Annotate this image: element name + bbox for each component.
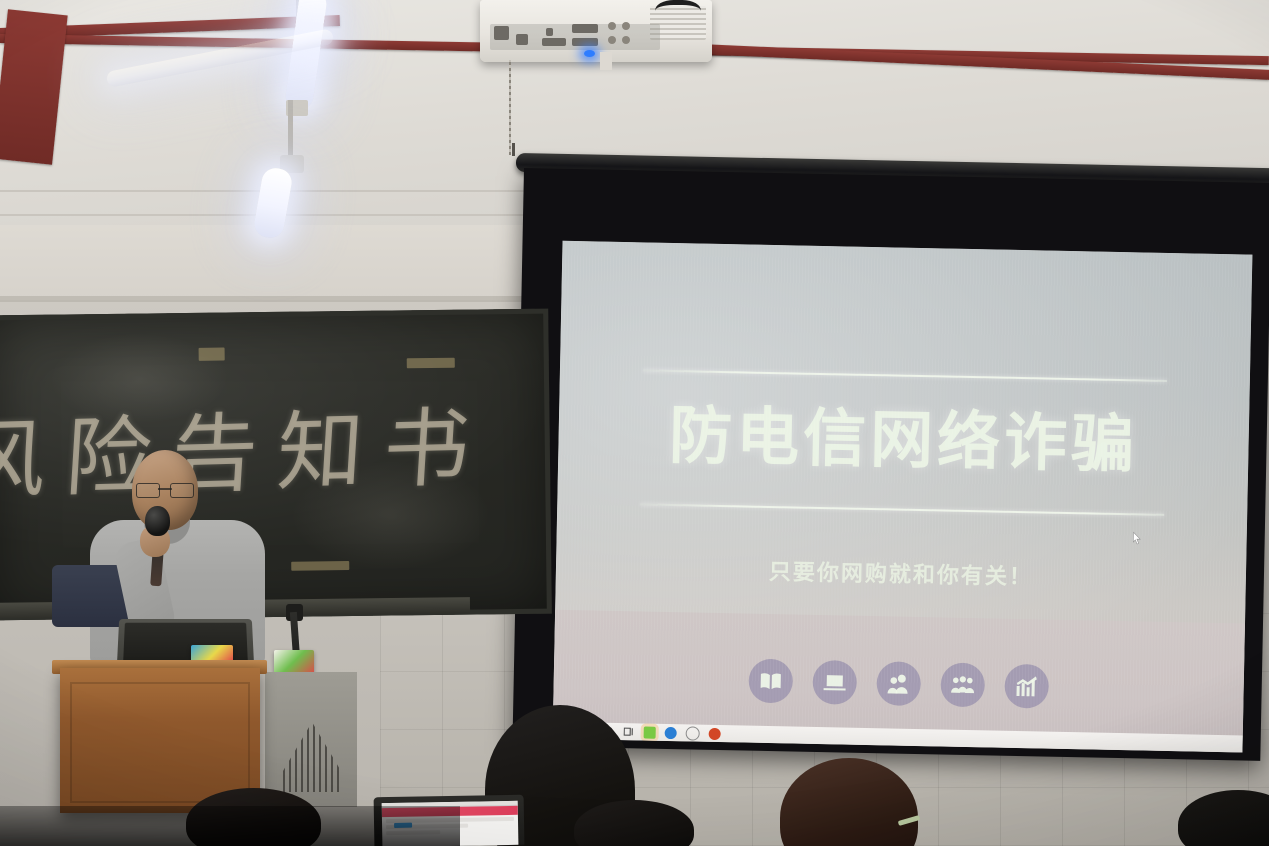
projector-port-vga bbox=[572, 24, 598, 33]
group-people-icon bbox=[940, 663, 985, 708]
task-view-icon[interactable] bbox=[623, 726, 635, 738]
app-icon-orange[interactable] bbox=[709, 727, 721, 739]
projector-port-rca bbox=[622, 22, 630, 30]
open-book-icon bbox=[748, 659, 793, 704]
classroom-scene: 防电信网络诈骗 只要你网购就和你有关！ bbox=[0, 0, 1269, 846]
app-icon-green[interactable] bbox=[644, 726, 656, 738]
slide-rule-top bbox=[643, 369, 1167, 382]
glasses-lens-right bbox=[170, 483, 194, 498]
slide-title: 防电信网络诈骗 bbox=[558, 383, 1250, 488]
lectern-panel bbox=[70, 682, 250, 803]
projector-port bbox=[494, 26, 509, 40]
projector-port-lan bbox=[516, 34, 528, 45]
foreground-shadow bbox=[0, 806, 460, 846]
chalk-tape-mark bbox=[407, 358, 455, 369]
glasses-lens-left bbox=[136, 483, 160, 498]
light-support-rod bbox=[288, 100, 293, 162]
presentation-slide: 防电信网络诈骗 只要你网购就和你有关！ bbox=[553, 241, 1253, 753]
bar-chart-growth-icon bbox=[1004, 664, 1049, 709]
speaker-grille bbox=[283, 722, 341, 792]
screen-hook bbox=[512, 143, 515, 156]
projector-port-vga bbox=[572, 38, 598, 46]
chalk-tape-mark bbox=[291, 561, 349, 571]
projector-power-cable bbox=[655, 0, 701, 27]
slide-rule-bottom bbox=[640, 504, 1164, 517]
projector-port-rca bbox=[608, 22, 616, 30]
projection-screen-border: 防电信网络诈骗 只要你网购就和你有关！ bbox=[512, 168, 1269, 761]
speaker-cabinet bbox=[265, 672, 357, 807]
chalk-tape-mark bbox=[199, 348, 225, 361]
app-icon-blue[interactable] bbox=[665, 726, 677, 738]
projector-port-rca bbox=[622, 36, 630, 44]
blackboard-chalk-text: 风险告知书 bbox=[0, 379, 404, 516]
projector-port-rca bbox=[608, 36, 616, 44]
projector-mount-arm bbox=[600, 52, 612, 70]
projection-screen-surface: 防电信网络诈骗 只要你网购就和你有关！ bbox=[553, 241, 1253, 753]
microphone-head bbox=[145, 506, 170, 536]
screen-chain bbox=[509, 60, 511, 155]
presenter-glasses bbox=[136, 483, 194, 496]
slide-subtitle: 只要你网购就和你有关！ bbox=[556, 549, 1247, 595]
laptop-icon bbox=[812, 660, 857, 705]
projector-port-vga bbox=[542, 38, 566, 46]
projector-port-usb bbox=[546, 28, 553, 36]
mouse-cursor bbox=[1133, 531, 1142, 545]
projector-power-led bbox=[584, 50, 595, 57]
app-icon-outline[interactable] bbox=[686, 726, 700, 740]
two-people-icon bbox=[876, 661, 921, 706]
